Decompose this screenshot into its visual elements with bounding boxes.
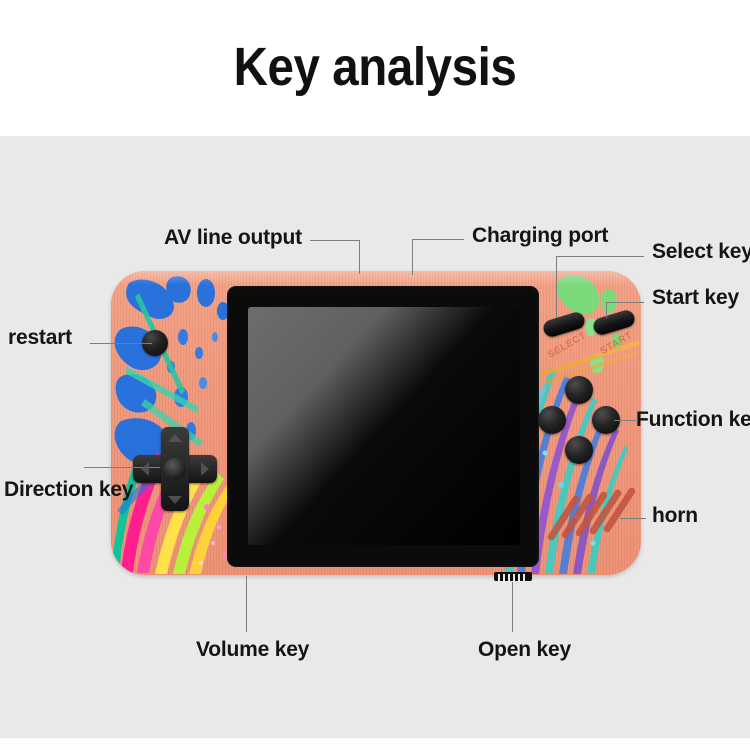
- dpad-down-arrow-icon: [168, 496, 182, 504]
- open-key-switch[interactable]: [494, 572, 532, 581]
- leader-line-charging-port-horizontal: [412, 239, 464, 240]
- callout-label-horn: horn: [652, 504, 698, 528]
- dpad-up-arrow-icon: [168, 434, 182, 442]
- leader-line-av-line-output-vertical: [359, 240, 360, 274]
- leader-line-start-key-vertical: [606, 302, 607, 318]
- dpad-left-arrow-icon: [141, 462, 149, 476]
- function-key-button-bottom[interactable]: [565, 436, 593, 464]
- function-key-button-left[interactable]: [538, 406, 566, 434]
- page-title: Key analysis: [45, 38, 705, 96]
- leader-line-volume-key: [246, 576, 247, 632]
- callout-label-function-key: Function key: [636, 408, 750, 432]
- footer-background: [0, 738, 750, 750]
- leader-line-open-key: [512, 582, 513, 632]
- leader-line-select-key-horizontal: [556, 256, 644, 257]
- callout-label-charging-port: Charging port: [472, 224, 608, 248]
- dpad-right-arrow-icon: [201, 462, 209, 476]
- horn-speaker-grille: [558, 486, 636, 548]
- dpad-center-hub: [164, 458, 186, 480]
- callout-label-volume-key: Volume key: [196, 638, 309, 662]
- leader-line-select-key-vertical: [556, 256, 557, 318]
- callout-label-restart: restart: [8, 326, 72, 350]
- callout-label-av-line-output: AV line output: [164, 226, 302, 250]
- leader-line-charging-port-vertical: [412, 239, 413, 275]
- function-key-button-top[interactable]: [565, 376, 593, 404]
- leader-line-start-key-horizontal: [606, 302, 644, 303]
- callout-label-select-key: Select key: [652, 240, 750, 264]
- callout-label-start-key: Start key: [652, 286, 739, 310]
- direction-key-dpad[interactable]: [133, 427, 217, 511]
- leader-line-function-key: [614, 420, 638, 421]
- key-analysis-infographic: Key analysis: [0, 0, 750, 750]
- leader-line-horn: [620, 518, 646, 519]
- leader-line-av-line-output-horizontal: [310, 240, 360, 241]
- screen-display: [248, 307, 520, 545]
- callout-label-open-key: Open key: [478, 638, 571, 662]
- callout-label-direction-key: Direction key: [4, 478, 133, 502]
- leader-line-restart: [90, 343, 152, 344]
